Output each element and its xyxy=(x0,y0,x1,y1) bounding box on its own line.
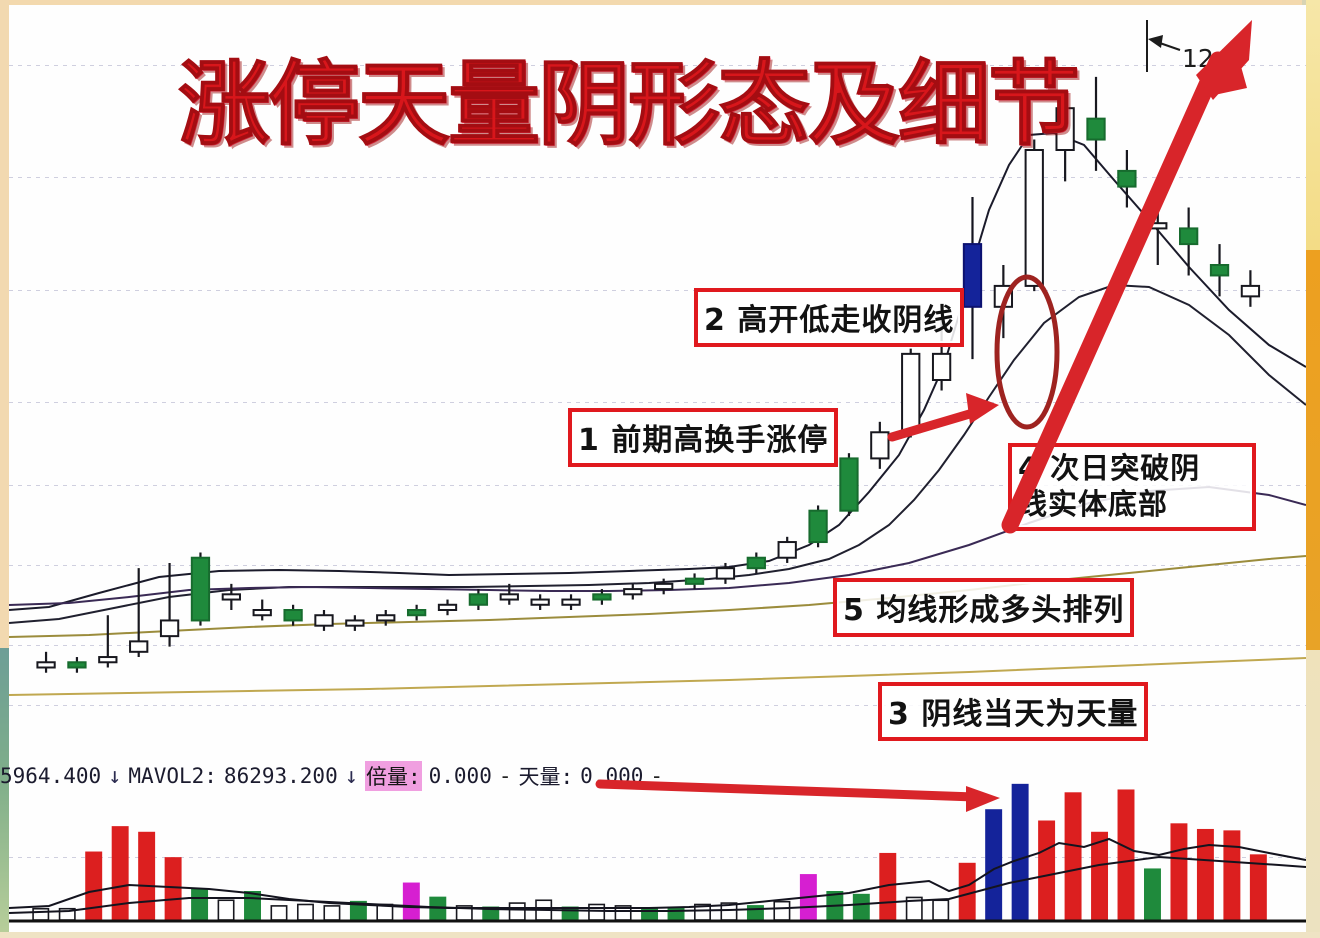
volume-bar xyxy=(562,907,577,920)
candle xyxy=(1026,140,1043,292)
candle xyxy=(346,615,363,631)
beiliang-label: 倍量: xyxy=(365,761,422,791)
candle xyxy=(1211,244,1228,296)
volume-bar xyxy=(933,900,948,920)
volume-bar xyxy=(1092,833,1107,920)
annotation-box-5: 5 均线形成多头排列 xyxy=(833,578,1134,637)
volume-bar xyxy=(112,827,127,920)
quote-status-line: 5964.400 ↓ MAVOL2: 86293.200 ↓ 倍量: 0.000… xyxy=(0,760,663,792)
volume-bar xyxy=(324,906,339,920)
volume-bar xyxy=(192,889,207,920)
volume-bar xyxy=(165,858,180,920)
candle xyxy=(809,505,826,547)
candle xyxy=(1242,270,1259,307)
candle xyxy=(686,573,703,589)
annotation-box-4-line1: 4 次日突破阴 xyxy=(1018,450,1246,486)
volume-bar xyxy=(986,810,1001,920)
separator-dash-1: - xyxy=(499,764,512,788)
volume-bar xyxy=(404,883,419,920)
candle xyxy=(1180,208,1197,276)
frame-right-top-strip xyxy=(1306,0,1320,250)
volume-bar-series xyxy=(9,785,1306,921)
candle xyxy=(964,197,981,359)
volume-bar xyxy=(589,904,604,920)
volume-bar xyxy=(1039,821,1054,920)
candle xyxy=(995,265,1012,338)
annotation-box-4: 4 次日突破阴 线实体底部 xyxy=(1008,443,1256,531)
volume-bar xyxy=(139,833,154,920)
chart-screenshot: 涨停天量阴形态及细节 124 5964.400 ↓ MAVOL2: 86293.… xyxy=(0,0,1320,938)
volume-bar xyxy=(668,907,683,920)
volume-bar xyxy=(1224,831,1239,920)
candle xyxy=(315,610,332,631)
mavol2-value: 86293.200 xyxy=(224,764,338,788)
volume-bar xyxy=(298,904,313,920)
candle xyxy=(439,600,456,616)
annotation-box-3: 3 阴线当天为天量 xyxy=(878,682,1148,741)
beiliang-value: 0.000 xyxy=(429,764,492,788)
annotation-box-2: 2 高开低走收阴线 xyxy=(694,288,964,347)
down-arrow-icon: ↓ xyxy=(108,764,121,789)
annotation-box-4-line2: 线实体底部 xyxy=(1018,486,1246,522)
candle xyxy=(902,349,919,438)
volume-bar xyxy=(1118,790,1133,920)
volume-bar xyxy=(1145,869,1160,920)
volume-bar xyxy=(1012,785,1027,920)
volume-bar xyxy=(245,892,260,920)
down-arrow-icon-2: ↓ xyxy=(345,764,358,789)
volume-bar xyxy=(271,906,286,920)
mavol2-label: MAVOL2: xyxy=(128,764,217,788)
candle xyxy=(68,657,85,673)
candle xyxy=(624,584,641,600)
candle xyxy=(779,537,796,563)
volume-bar xyxy=(86,852,101,920)
tianliang-label: 天量: xyxy=(519,761,574,791)
candle xyxy=(470,589,487,610)
volume-bar xyxy=(218,900,233,920)
volume-bar xyxy=(774,902,789,920)
separator-dash-2: - xyxy=(650,764,663,788)
quote-value: 5964.400 xyxy=(0,764,101,788)
volume-bar xyxy=(1198,830,1213,920)
candle xyxy=(37,652,54,673)
frame-right-bottom-strip xyxy=(1306,650,1320,938)
frame-bottom-strip xyxy=(0,932,1320,938)
annotation-box-1: 1 前期高换手涨停 xyxy=(568,408,838,467)
candle xyxy=(1118,150,1135,208)
tianliang-value: 0.000 xyxy=(580,764,643,788)
price-level-label: 124 xyxy=(1182,44,1230,73)
candle xyxy=(1087,77,1104,171)
candle xyxy=(840,453,857,516)
candle xyxy=(254,600,271,621)
candle xyxy=(192,553,209,626)
page-title: 涨停天量阴形态及细节 xyxy=(178,52,1078,157)
volume-bar xyxy=(854,895,869,920)
candle xyxy=(99,615,116,667)
volume-gridline xyxy=(9,857,1306,858)
candle xyxy=(284,605,301,626)
frame-left-bottom-strip xyxy=(0,648,9,938)
frame-right-middle-strip xyxy=(1306,250,1320,650)
volume-bar xyxy=(1065,793,1080,920)
candle xyxy=(408,605,425,621)
volume-bar xyxy=(510,903,525,920)
frame-left-top-strip xyxy=(0,0,9,648)
candle xyxy=(748,553,765,574)
candle xyxy=(871,422,888,469)
volume-bar xyxy=(33,909,48,920)
candle xyxy=(532,594,549,610)
candle xyxy=(562,594,579,610)
volume-bar xyxy=(1171,824,1186,920)
